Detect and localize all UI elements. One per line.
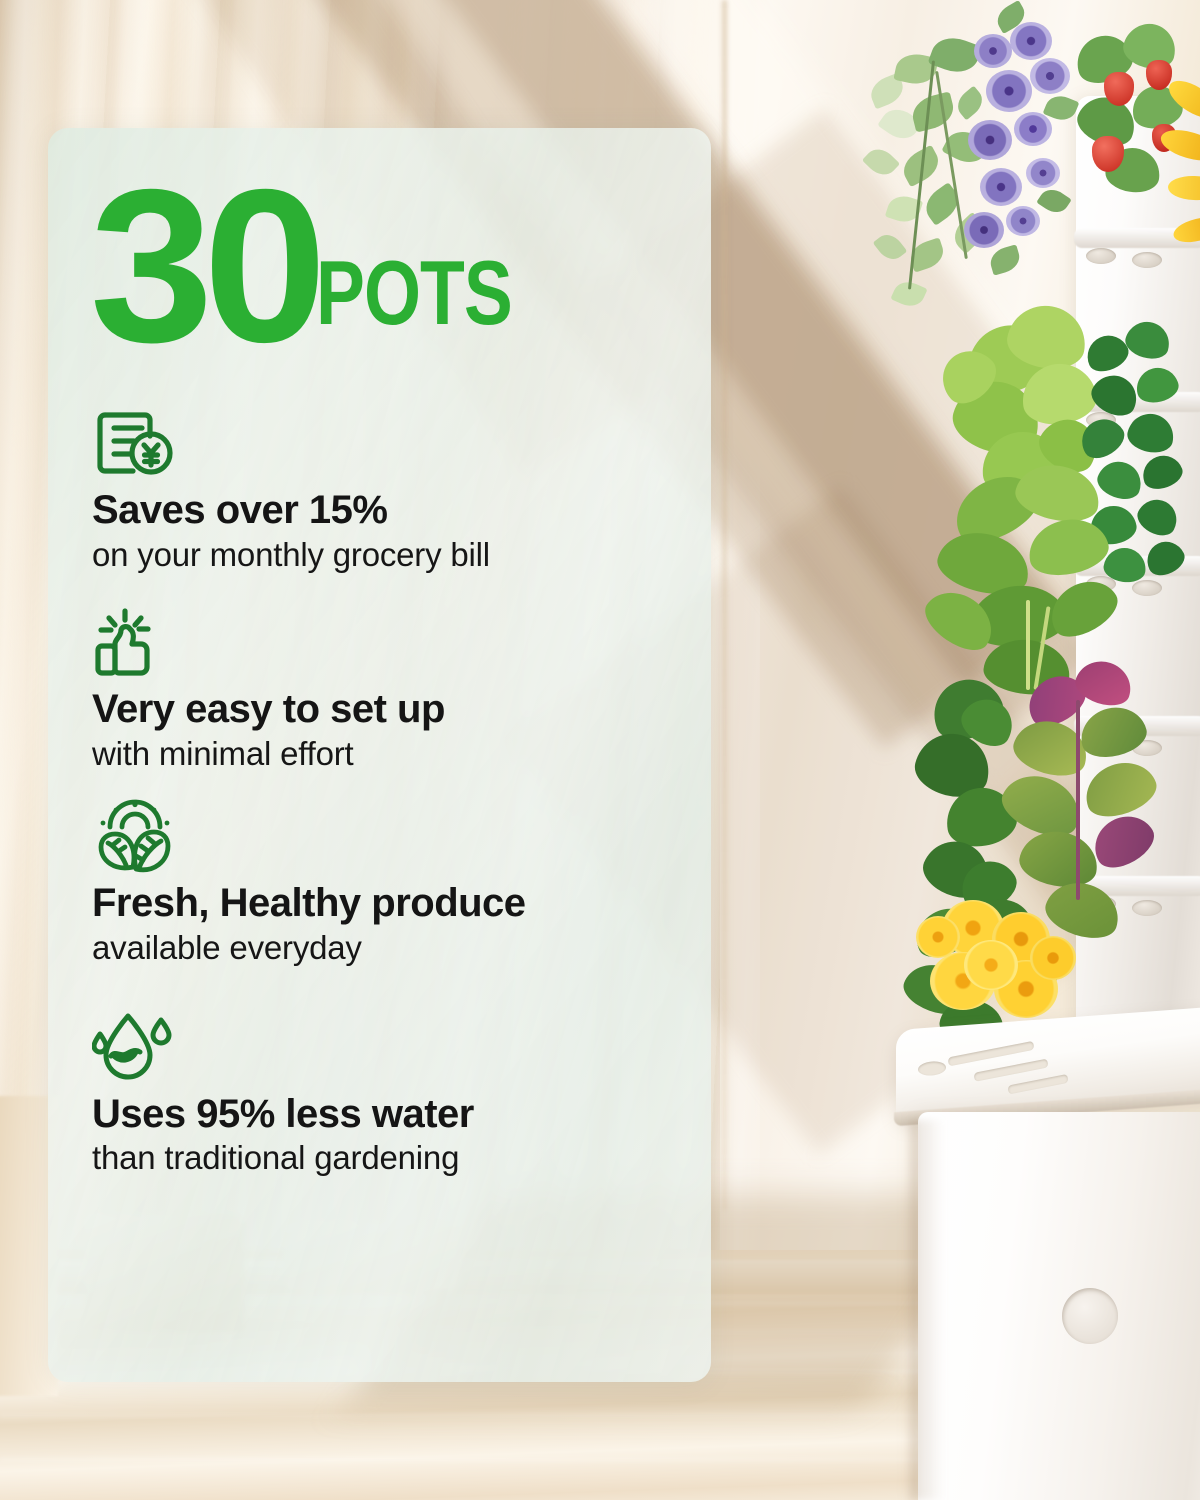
tower-base-drain-hole (1062, 1288, 1118, 1344)
headline: 30 POTS (92, 180, 671, 354)
hydroponic-tower (880, 0, 1200, 1500)
tower-base-reservoir (918, 1112, 1200, 1500)
feature-subtitle: available everyday (92, 928, 671, 968)
feature-subtitle: than traditional gardening (92, 1138, 671, 1178)
feature-item-savings: Saves over 15% on your monthly grocery b… (92, 406, 671, 574)
feature-title: Uses 95% less water (92, 1092, 671, 1137)
thumbs-up-icon (92, 605, 178, 679)
headline-unit: POTS (316, 248, 512, 355)
water-drop-icon (92, 1010, 178, 1084)
headline-number: 30 (90, 180, 317, 354)
feature-subtitle: with minimal effort (92, 734, 671, 774)
feature-item-fresh-produce: Fresh, Healthy produce available everyda… (92, 799, 671, 967)
leaves-sun-icon (92, 799, 178, 873)
document-yen-icon (92, 406, 178, 480)
feature-item-water-saving: Uses 95% less water than traditional gar… (92, 1010, 671, 1178)
wall-corner-seam (722, 0, 727, 1210)
feature-title: Fresh, Healthy produce (92, 881, 671, 926)
feature-subtitle: on your monthly grocery bill (92, 535, 671, 575)
feature-item-easy-setup: Very easy to set up with minimal effort (92, 605, 671, 773)
feature-panel: 30 POTS Saves over 15% o (48, 128, 711, 1382)
feature-title: Saves over 15% (92, 488, 671, 533)
tower-base-shading (910, 1120, 944, 1500)
feature-title: Very easy to set up (92, 687, 671, 732)
